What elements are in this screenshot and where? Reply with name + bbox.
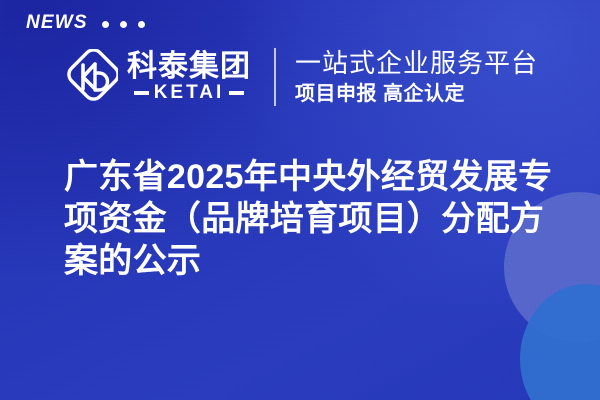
brand-band: 科泰集团 KETAI 一站式企业服务平台 项目申报 高企认定 bbox=[0, 44, 600, 110]
news-label: NEWS bbox=[26, 12, 88, 34]
brand-divider bbox=[274, 48, 276, 106]
ketai-logo-wordmark: 科泰集团 KETAI bbox=[127, 52, 251, 103]
latin-dash-left-icon bbox=[134, 91, 149, 95]
tagline-main: 一站式企业服务平台 bbox=[295, 48, 538, 78]
tagline-group: 一站式企业服务平台 项目申报 高企认定 bbox=[295, 48, 538, 106]
tagline-sub: 项目申报 高企认定 bbox=[295, 82, 538, 106]
ketai-logo: 科泰集团 KETAI bbox=[62, 49, 251, 105]
ketai-diamond-kp-monogram-icon bbox=[62, 49, 118, 105]
latin-dash-right-icon bbox=[229, 91, 244, 95]
news-badge: NEWS bbox=[26, 12, 145, 34]
news-banner: NEWS 科泰集团 KETAI bbox=[0, 0, 600, 400]
banner-content: NEWS 科泰集团 KETAI bbox=[0, 0, 600, 400]
ketai-name-cn: 科泰集团 bbox=[127, 52, 251, 83]
page-title: 广东省2025年中央外经贸发展专项资金（品牌培育项目）分配方案的公示 bbox=[64, 156, 574, 282]
ketai-name-latin: KETAI bbox=[154, 83, 225, 102]
ketai-latin-row: KETAI bbox=[127, 83, 251, 102]
news-dots-icon bbox=[102, 21, 145, 28]
